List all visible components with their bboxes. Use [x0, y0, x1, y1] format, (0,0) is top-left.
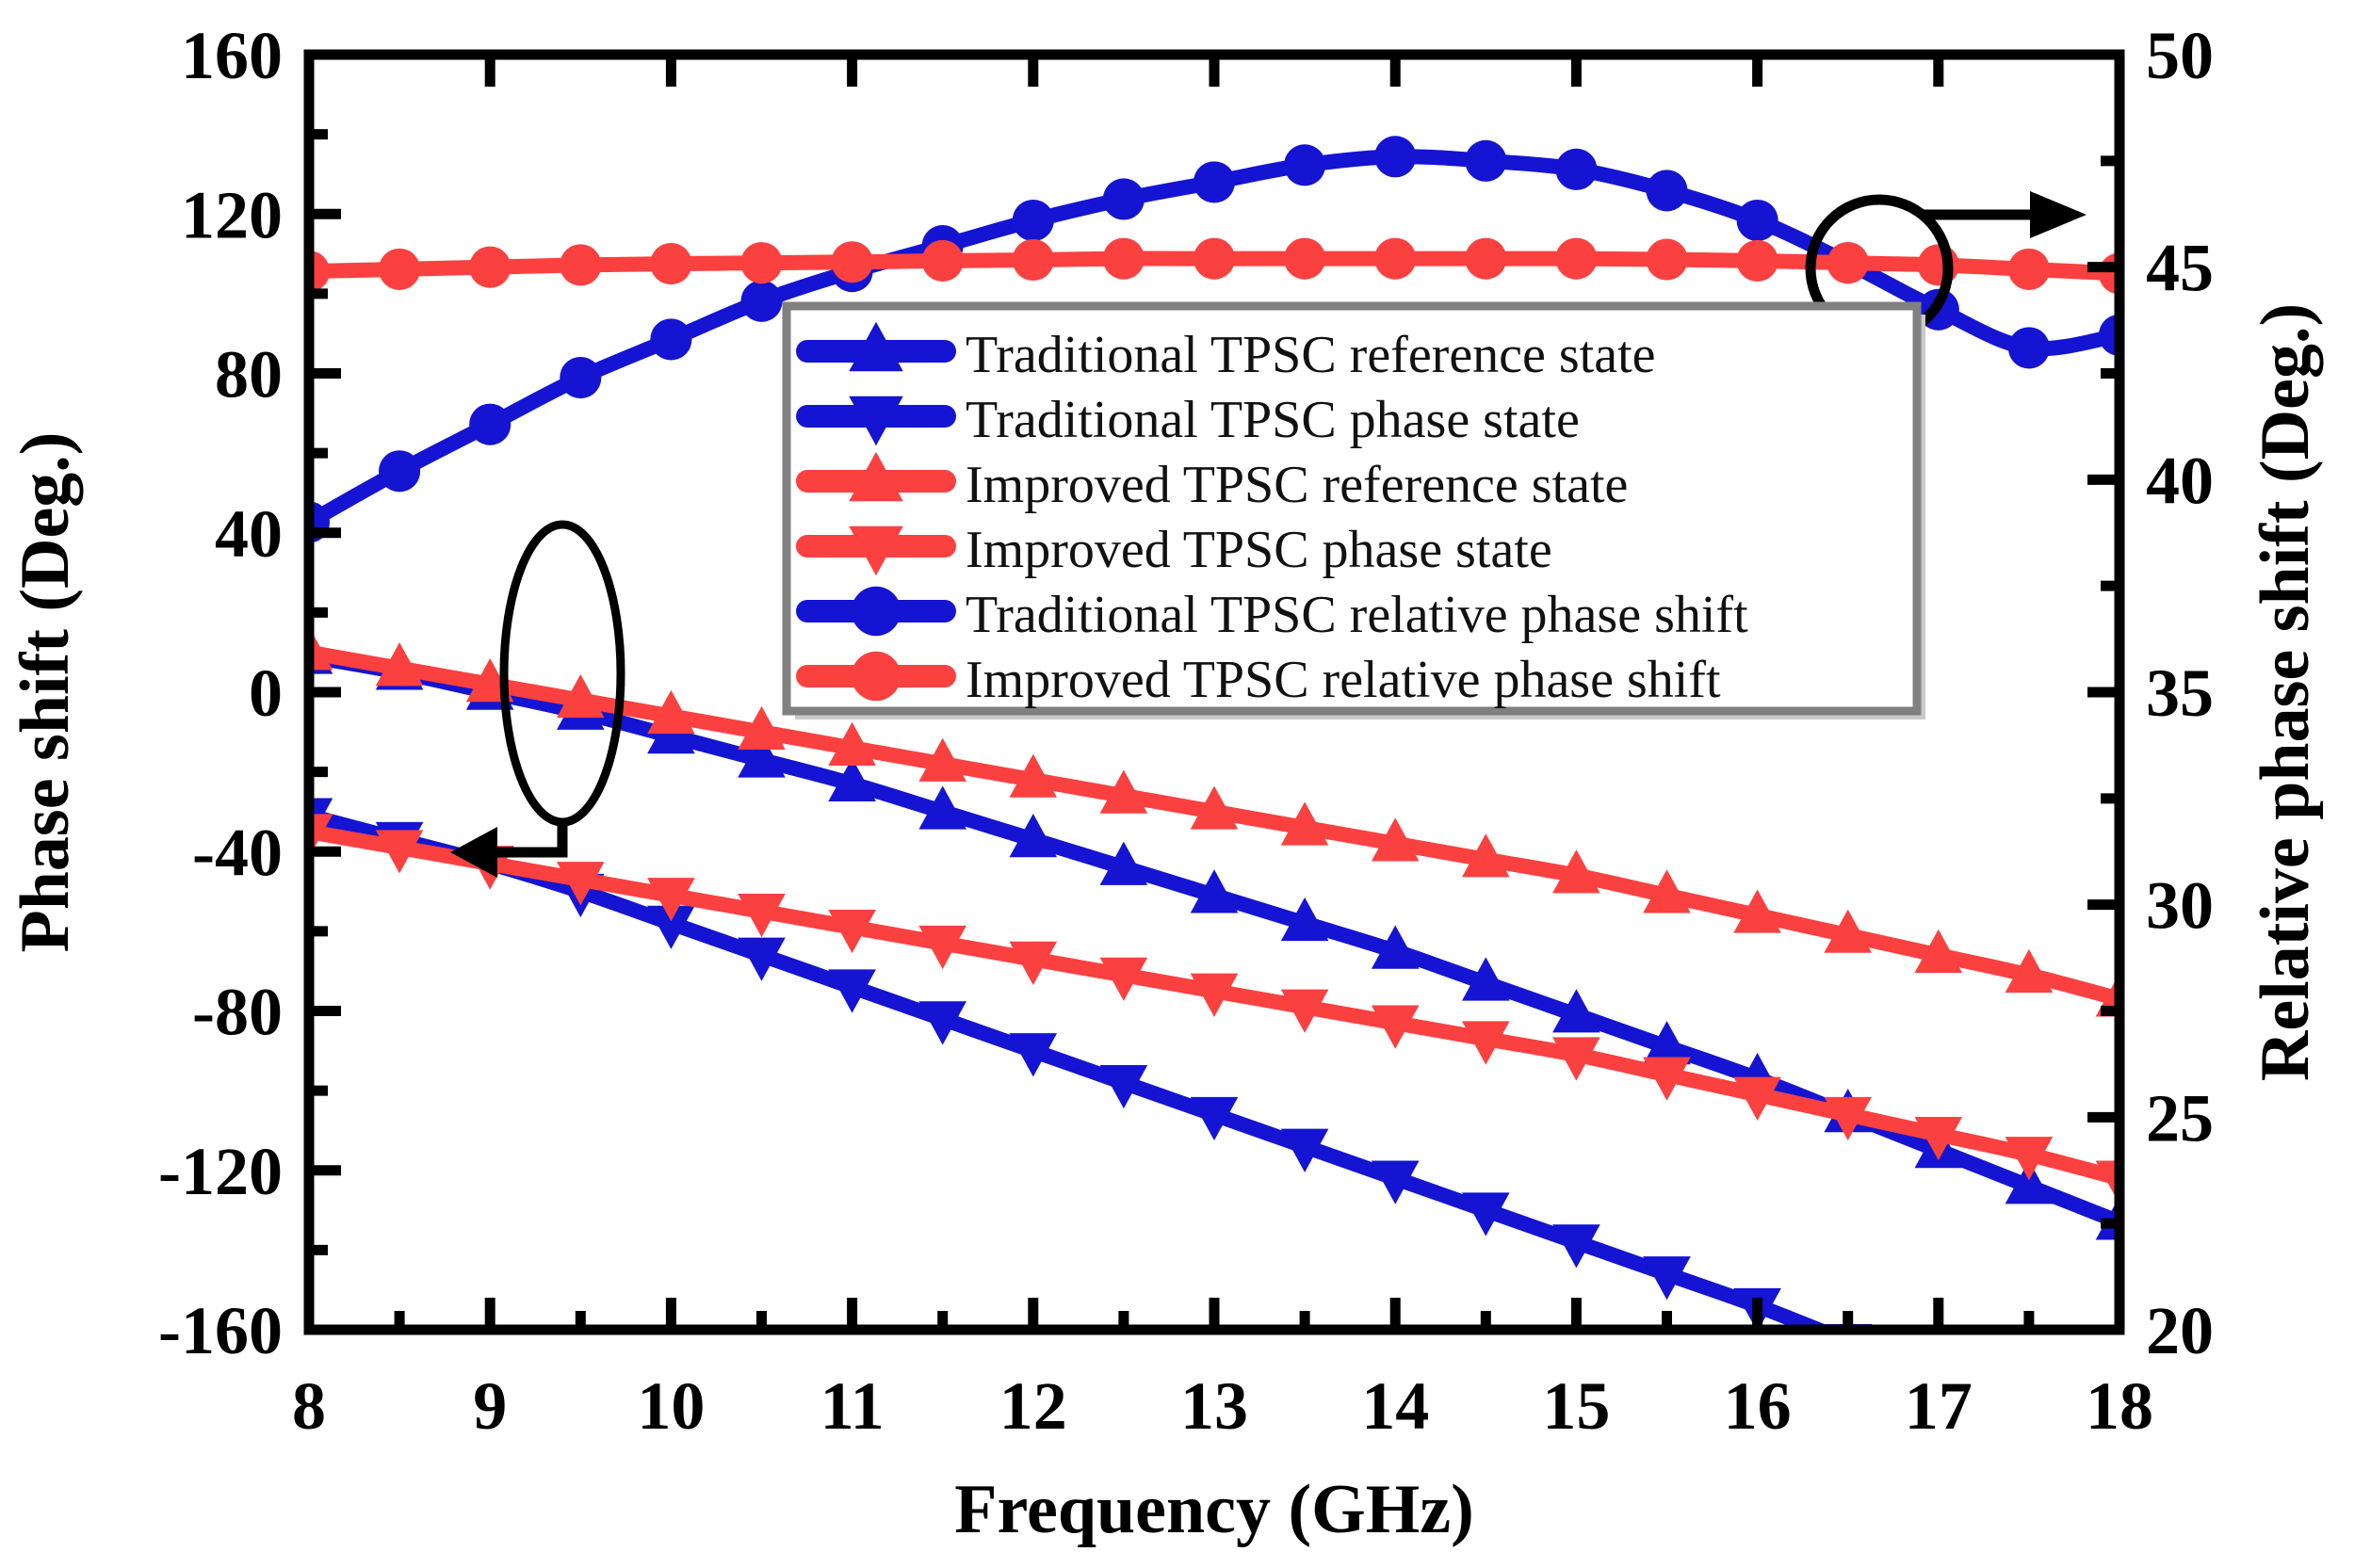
x-axis-tick-label: 11 — [820, 1368, 885, 1444]
data-point-marker — [1374, 238, 1416, 280]
data-point-marker — [1194, 238, 1235, 280]
data-point-marker — [1737, 240, 1778, 282]
data-point-marker — [560, 244, 601, 285]
data-point-marker — [1103, 178, 1145, 219]
data-point-marker — [379, 450, 420, 492]
y-axis-left-tick-label: 40 — [215, 496, 283, 572]
x-axis-tick-label: 13 — [1180, 1368, 1248, 1444]
x-axis-tick-label: 15 — [1542, 1368, 1610, 1444]
y-axis-right-tick-label: 40 — [2146, 443, 2214, 518]
y-axis-left-tick-label: -80 — [192, 975, 283, 1050]
data-point-marker — [1646, 170, 1687, 211]
data-point-marker — [740, 242, 782, 283]
data-point-marker — [1646, 238, 1687, 280]
x-axis-tick-label: 12 — [999, 1368, 1067, 1444]
data-point-marker — [379, 249, 420, 290]
data-point-marker — [650, 318, 691, 360]
y-axis-left-tick-label: -40 — [192, 815, 283, 890]
y-axis-left-tick-label: 160 — [181, 18, 283, 93]
data-point-marker — [832, 241, 873, 283]
y-axis-left-tick-label: 0 — [249, 655, 283, 731]
y-axis-left-title: Phase shift (Deg.) — [7, 432, 84, 953]
data-point-marker — [1555, 149, 1597, 190]
data-point-marker — [1555, 238, 1597, 280]
x-axis-tick-label: 17 — [1905, 1368, 1973, 1444]
chart-root: 16012080400-40-80-120-160504540353025208… — [0, 0, 2371, 1568]
y-axis-right-tick-label: 30 — [2146, 868, 2214, 944]
data-point-marker — [922, 240, 964, 282]
y-axis-left-tick-label: 120 — [181, 177, 283, 252]
y-axis-left-tick-label: -160 — [158, 1293, 283, 1368]
data-point-marker — [1194, 161, 1235, 202]
data-point-marker — [1103, 238, 1145, 280]
y-axis-left-tick-label: 80 — [215, 337, 283, 412]
x-axis-tick-label: 9 — [473, 1368, 507, 1444]
data-point-marker — [1737, 200, 1778, 241]
data-point-marker — [469, 247, 511, 288]
y-axis-right-tick-label: 50 — [2146, 18, 2214, 93]
legend-item-label: Improved TPSC relative phase shift — [966, 651, 1721, 709]
data-point-marker — [1284, 144, 1325, 186]
data-point-marker — [852, 652, 901, 702]
y-axis-right-title: Relative phase shift (Deg.) — [2247, 303, 2324, 1081]
legend-item-label: Improved TPSC reference state — [966, 456, 1628, 514]
data-point-marker — [560, 357, 601, 398]
x-axis-tick-label: 16 — [1724, 1368, 1792, 1444]
y-axis-left-tick-label: -120 — [158, 1134, 283, 1209]
x-axis-tick-label: 18 — [2086, 1368, 2153, 1444]
legend-item-label: Traditional TPSC phase state — [966, 391, 1580, 449]
data-point-marker — [1465, 238, 1506, 280]
data-point-marker — [2008, 327, 2050, 368]
data-point-marker — [650, 243, 691, 284]
legend-item-label: Improved TPSC phase state — [966, 521, 1552, 579]
x-axis-title: Frequency (GHz) — [954, 1471, 1473, 1548]
data-point-marker — [469, 404, 511, 445]
data-point-marker — [1465, 140, 1506, 182]
y-axis-right-tick-label: 25 — [2146, 1080, 2214, 1156]
x-axis-tick-label: 14 — [1361, 1368, 1429, 1444]
x-axis-tick-label: 8 — [292, 1368, 326, 1444]
data-point-marker — [852, 587, 901, 637]
phase-shift-chart: 16012080400-40-80-120-160504540353025208… — [0, 0, 2371, 1568]
data-point-marker — [1013, 200, 1054, 241]
data-point-marker — [1013, 239, 1054, 281]
data-point-marker — [740, 281, 782, 322]
y-axis-right-tick-label: 20 — [2146, 1293, 2214, 1368]
legend-item-label: Traditional TPSC reference state — [966, 326, 1656, 384]
data-point-marker — [2008, 249, 2050, 290]
x-axis-tick-label: 10 — [637, 1368, 705, 1444]
data-point-marker — [1827, 242, 1869, 283]
legend-item-label: Traditional TPSC relative phase shift — [966, 586, 1748, 644]
y-axis-right-tick-label: 45 — [2146, 231, 2214, 306]
data-point-marker — [1284, 238, 1325, 280]
y-axis-right-tick-label: 35 — [2146, 655, 2214, 731]
legend-layer[interactable]: Traditional TPSC reference stateTraditio… — [787, 306, 1925, 719]
data-point-marker — [1374, 136, 1416, 177]
